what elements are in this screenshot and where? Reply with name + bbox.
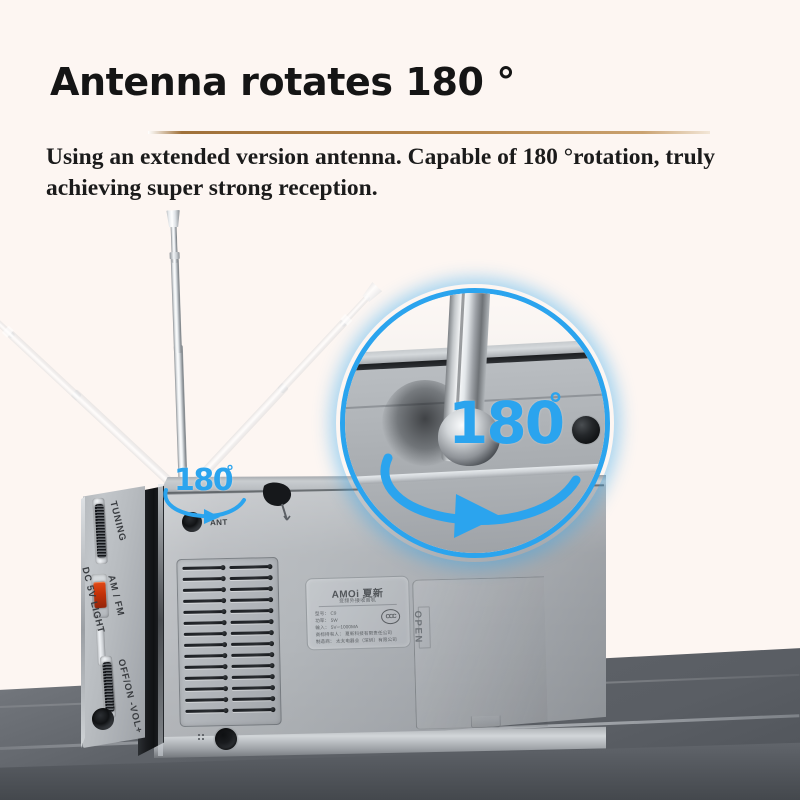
product-feature-image: Antenna rotates 180 ° Using an extended … [0,0,800,800]
headphone-jack[interactable] [92,708,114,730]
grille-column-left [182,566,227,719]
antenna-segment [7,331,82,401]
antenna-collar [170,252,180,259]
battery-door-notch [471,715,501,728]
title-divider-rule [148,131,710,134]
antenna-telescopic[interactable] [165,195,191,495]
antenna-hinge-cutout [256,480,316,524]
rotation-badge-small-value: 180 [174,466,232,496]
magnifier-value: 180 [448,394,563,452]
battery-door-open-label: OPEN [412,610,424,644]
page-subtitle: Using an extended version antenna. Capab… [46,142,746,204]
antenna-segment-middle [171,258,182,353]
radio-control-panel-edge [81,486,85,748]
ccc-certification-mark: CCC [381,609,400,625]
reset-pinholes [198,734,207,739]
sticker-spec-list: 型号： C9 功率： 5W 输入： 5V⎓1000MA 商标持有人： 夏新科技有… [315,608,382,645]
rotation-badge-small: 180 ° [160,462,260,528]
rotation-badge-small-degree: ° [226,462,234,481]
grille-column-right [229,565,274,718]
magnifier-content: 180 ° [340,288,610,558]
battery-compartment-door[interactable]: OPEN [412,576,548,729]
speaker-grille [176,557,281,727]
magnifier-callout: 180 ° [336,284,614,562]
sticker-spec-line: 制造商： 太太电器业（深圳）有限公司 [316,637,382,646]
page-title: Antenna rotates 180 ° [50,60,515,104]
antenna-tip-knob [165,210,182,228]
dc-power-jack[interactable] [215,728,237,750]
magnifier-degree: ° [548,388,563,423]
product-label-sticker: AMOi 夏新 变频外接收音机 型号： C9 功率： 5W 输入： 5V⎓100… [305,576,411,651]
magnifier-ring: 180 ° [340,288,610,558]
